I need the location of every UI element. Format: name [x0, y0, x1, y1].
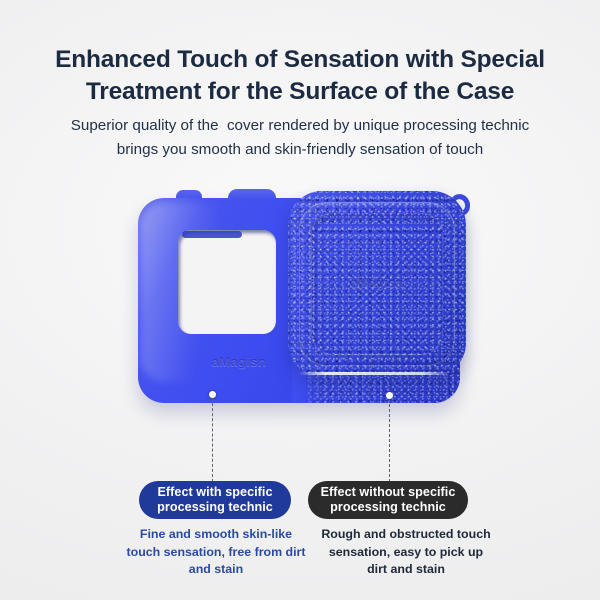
hotspot-smooth-surface [209, 391, 216, 398]
screen-cutout [178, 230, 276, 334]
product-image: aMagisn aMagisn [128, 186, 476, 418]
leader-line-smooth [212, 398, 213, 482]
hotspot-rough-surface [386, 392, 393, 399]
screen-cutout-lip [182, 231, 242, 238]
caption-without-treatment: Rough and obstructed touch sensation, ea… [318, 526, 494, 579]
lens-cap-seam [298, 372, 450, 375]
leader-line-rough [389, 399, 390, 482]
brand-logo-body: aMagisn [183, 354, 295, 369]
page-title: Enhanced Touch of Sensation with Special… [18, 44, 582, 107]
callout-pill-with-treatment: Effect with specific processing technic [139, 481, 291, 519]
page-subtitle: Superior quality of the cover rendered b… [60, 114, 540, 161]
brand-logo-cap: aMagisn [323, 276, 431, 290]
caption-with-treatment: Fine and smooth skin-like touch sensatio… [125, 526, 307, 579]
callout-pill-without-treatment: Effect without specific processing techn… [308, 481, 468, 519]
product-feature-infographic: Enhanced Touch of Sensation with Special… [0, 0, 600, 600]
